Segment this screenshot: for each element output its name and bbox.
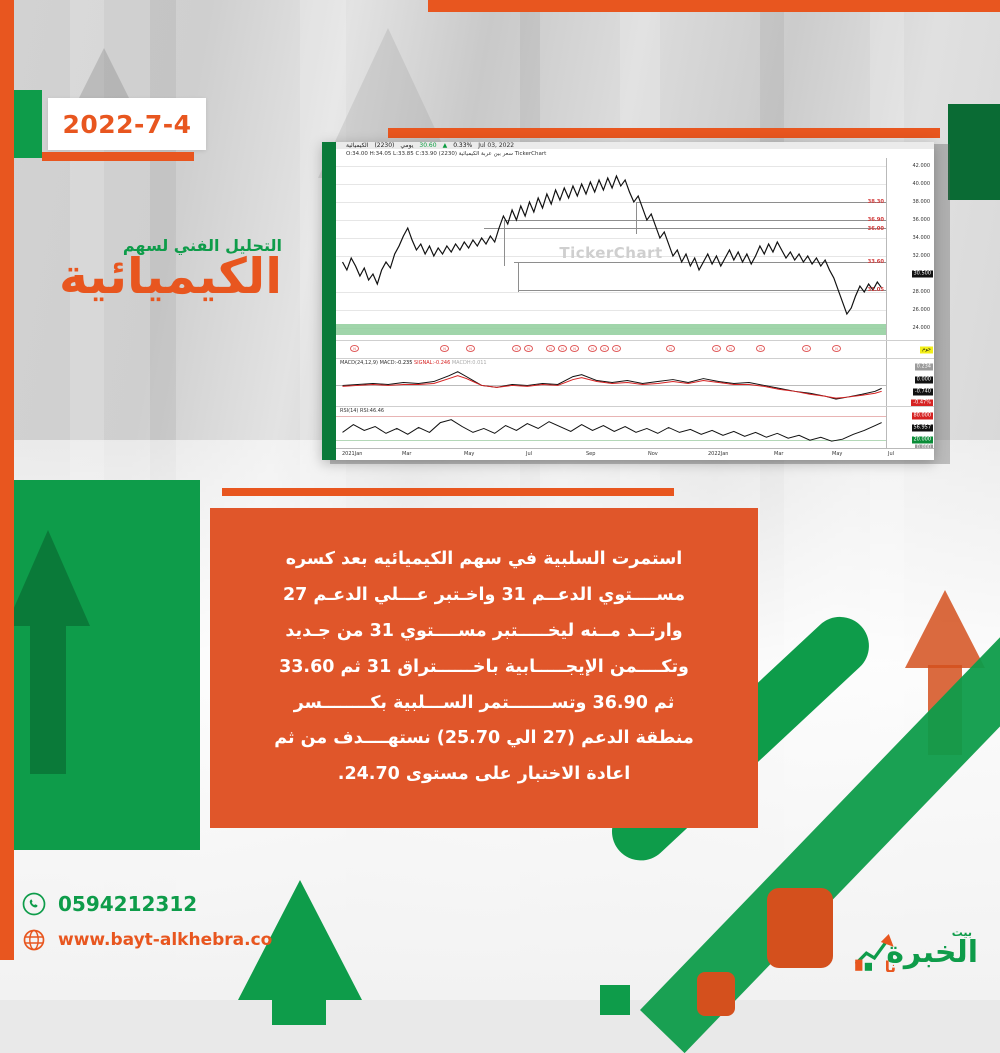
price-pane: TickerChart 38.30 36.90 36.00 33.60 31.0… [336,158,934,340]
price-tick: 38.000 [913,199,931,205]
orange-rounded-square-small [697,972,735,1016]
logo-accent-word: نا [885,958,896,976]
macd-tag-lower: -0.740 [913,389,933,396]
right-up-arrow-head-icon [905,590,985,668]
chart-body: الكيميائية (2230) يومي 30.60 ▲ 0.33% Jul… [336,142,934,460]
macd-tag-zero: 0.000 [915,377,933,384]
level-label-3600: 36.00 [868,226,884,232]
price-tick: 26.000 [913,307,931,313]
logo-main-word: الخبرة [886,938,978,968]
price-tick: 28.000 [913,289,931,295]
chart-header: الكيميائية (2230) يومي 30.60 ▲ 0.33% Jul… [336,142,934,149]
level-label-3830: 38.30 [868,199,884,205]
macd-tag-upper: 0.234 [915,364,933,371]
date-badge-text: 2022-7-4 [62,110,191,139]
analysis-line: وارتــد مــنه ليخـــــتبر مســــتوي 31 م… [248,614,720,650]
chart-ohlc-line: TickerChart سعر بين عربة الكيميائية (223… [336,149,934,158]
level-label-3690: 36.90 [868,217,884,223]
chart-symbol-name: الكيميائية [346,142,368,149]
x-tick: 2022Jan [708,451,728,457]
analysis-line: مســــتوي الدعــم 31 واخـتبر عـــلي الدع… [248,578,720,614]
chart-watermark: TickerChart [559,244,662,262]
chart-date: Jul 03, 2022 [478,142,514,149]
price-tick: 36.000 [913,217,931,223]
date-badge-underline [42,152,194,161]
rsi-axis: 80.000 56.957 20.000 0.000 [886,407,934,448]
page-title: التحليل الفني لسهم الكيميائية [0,236,282,302]
analysis-line: وتكــــمن الإيجـــــابية باخــــــتراق 3… [248,650,720,686]
price-tick: 40.000 [913,181,931,187]
price-tick: 32.000 [913,253,931,259]
rsi-tag-val: 56.957 [912,425,934,432]
x-tick: Nov [648,451,658,457]
price-plot: TickerChart 38.30 36.90 36.00 33.60 31.0… [336,158,886,340]
whatsapp-icon [22,892,46,916]
price-tick: 42.000 [913,163,931,169]
date-badge: 2022-7-4 [48,98,206,150]
website-url: www.bayt-alkhebra.co [58,930,272,950]
chart-market-label: يومي [400,142,413,149]
rsi-pane: RSI(14) RSI:46.46 80.000 56.957 20.000 0… [336,406,934,448]
page-title-text: الكيميائية [0,251,282,302]
website-row[interactable]: www.bayt-alkhebra.co [22,928,272,952]
macd-pane: MACD(24,12,9) MACD:-0.235 SIGNAL:-0.246 … [336,358,934,406]
whatsapp-row[interactable]: 0594212312 [22,892,272,916]
orange-rounded-square-large [767,888,833,968]
left-up-arrow-head-icon [6,530,90,626]
x-tick: Mar [402,451,411,457]
analysis-line: استمرت السلبية في سهم الكيميائيه بعد كسر… [248,542,720,578]
x-tick: May [832,451,842,457]
globe-icon [22,928,46,952]
chart-symbol-code: (2230) [374,142,394,149]
volume-axis: جوم [886,341,934,358]
chart-panes: TickerChart 38.30 36.90 36.00 33.60 31.0… [336,158,934,460]
macd-axis: 0.234 0.000 -0.740 -0.47% [886,359,934,406]
volume-tag: جوم [920,347,933,354]
analysis-line: ثم 36.90 وتســـــــتمر الســـلبية بكــــ… [248,686,720,722]
brand-logo: بيت الخبرة نا [852,920,982,986]
price-tick: 34.000 [913,235,931,241]
rsi-tag-80: 80.000 [912,413,934,420]
chart-top-rule [388,128,940,138]
contact-block: 0594212312 www.bayt-alkhebra.co [22,892,272,964]
price-axis: 42.000 40.000 38.000 36.000 34.000 32.00… [886,158,934,340]
chart-up-arrow-icon: ▲ [443,142,448,149]
analysis-panel-rule [222,488,674,496]
chart-card-green-edge [322,142,336,460]
x-tick: Sep [586,451,595,457]
volume-pane: N N N N N N N N N N N N N N N N N [336,340,934,358]
x-tick: 2021Jan [342,451,362,457]
green-square-small [600,985,630,1015]
x-tick: May [464,451,474,457]
x-tick: Jul [526,451,532,457]
macd-series [336,359,886,406]
analysis-line: اعادة الاختبار على مستوى 24.70. [248,757,720,793]
left-up-arrow-stem-icon [30,624,66,774]
bottom-up-arrow-stem-icon [272,965,326,1025]
top-right-green-tab [948,104,1000,200]
level-label-3105: 31.05 [868,287,884,293]
macd-plot: MACD(24,12,9) MACD:-0.235 SIGNAL:-0.246 … [336,359,886,406]
rsi-plot: RSI(14) RSI:46.46 [336,407,886,448]
x-tick: Jul [888,451,894,457]
analysis-line: منطقة الدعم (27 الي 25.70) نستهــــدف من… [248,721,720,757]
level-label-3360: 33.60 [868,259,884,265]
divergence-markers: N N N N N N N N N N N N N N N N N [336,341,886,358]
chart-last-price: 30.60 [419,142,436,149]
analysis-panel: استمرت السلبية في سهم الكيميائيه بعد كسر… [210,508,758,828]
chart-x-axis: 2021Jan Mar May Jul Sep Nov 2022Jan Mar … [336,448,934,460]
left-orange-strip [0,0,14,960]
x-tick: Mar [774,451,783,457]
price-tick: 24.000 [913,325,931,331]
current-price-tag: 30.500 [912,271,934,278]
rsi-series [336,407,886,448]
chart-change-pct: 0.33% [453,142,472,149]
top-orange-bar [428,0,1000,12]
whatsapp-number: 0594212312 [58,892,197,916]
chart-card: الكيميائية (2230) يومي 30.60 ▲ 0.33% Jul… [322,142,934,460]
rsi-tag-20: 20.000 [912,437,934,444]
